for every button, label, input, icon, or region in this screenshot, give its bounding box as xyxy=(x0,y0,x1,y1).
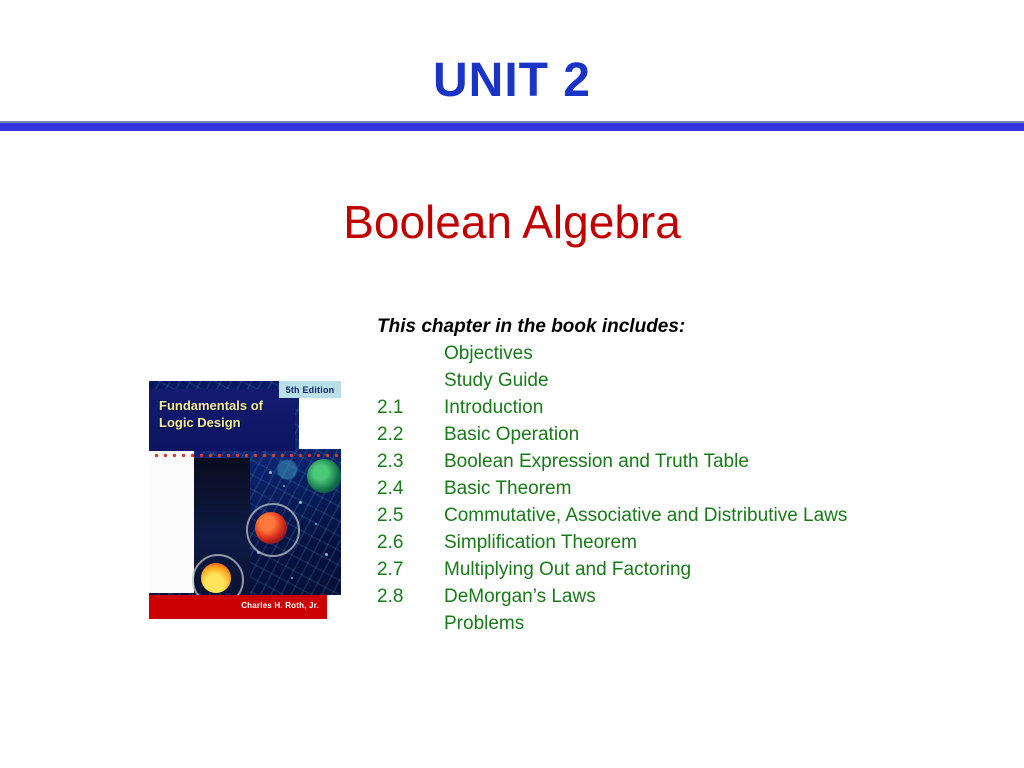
list-item: 2.7 Multiplying Out and Factoring xyxy=(377,556,997,583)
list-item: 2.1 Introduction xyxy=(377,394,997,421)
edition-badge: 5th Edition xyxy=(279,381,341,398)
toc-number: 2.2 xyxy=(377,421,444,448)
list-item: 2.8 DeMorgan’s Laws xyxy=(377,583,997,610)
list-item: 2.6 Simplification Theorem xyxy=(377,529,997,556)
cover-title-line1: Fundamentals of xyxy=(159,397,295,414)
list-item: 2.4 Basic Theorem xyxy=(377,475,997,502)
circuit-speck xyxy=(325,553,328,556)
toc-number xyxy=(377,610,444,637)
list-item: Objectives xyxy=(377,340,997,367)
circuit-speck xyxy=(283,485,285,487)
toc-number: 2.7 xyxy=(377,556,444,583)
cover-title-line2: Logic Design xyxy=(159,414,295,431)
toc-number: 2.6 xyxy=(377,529,444,556)
toc-number: 2.1 xyxy=(377,394,444,421)
slide-subtitle: Boolean Algebra xyxy=(0,196,1024,249)
circuit-speck xyxy=(315,523,317,525)
toc-label: Basic Theorem xyxy=(444,475,997,502)
page-title: UNIT 2 xyxy=(0,55,1024,108)
toc-label: Objectives xyxy=(444,340,997,367)
chapter-contents: This chapter in the book includes: Objec… xyxy=(377,313,997,637)
list-item: Study Guide xyxy=(377,367,997,394)
cover-title: Fundamentals of Logic Design xyxy=(159,397,295,431)
yellow-orb xyxy=(201,563,231,593)
cover-author: Charles H. Roth, Jr. xyxy=(241,601,319,610)
list-item: 2.5 Commutative, Associative and Distrib… xyxy=(377,502,997,529)
toc-number xyxy=(377,340,444,367)
title-divider xyxy=(0,121,1024,131)
toc-label: DeMorgan’s Laws xyxy=(444,583,997,610)
cover-white-panel-right xyxy=(299,398,341,449)
toc-label: Introduction xyxy=(444,394,997,421)
toc-number: 2.8 xyxy=(377,583,444,610)
list-item: 2.3 Boolean Expression and Truth Table xyxy=(377,448,997,475)
circuit-speck xyxy=(299,501,302,504)
toc-label: Multiplying Out and Factoring xyxy=(444,556,997,583)
toc-label: Commutative, Associative and Distributiv… xyxy=(444,502,997,529)
green-orb xyxy=(307,459,341,493)
toc-number xyxy=(377,367,444,394)
cover-dot-row xyxy=(152,453,338,458)
toc-label: Basic Operation xyxy=(444,421,997,448)
list-item: 2.2 Basic Operation xyxy=(377,421,997,448)
book-cover-image: Fundamentals of Logic Design 5th Edition… xyxy=(149,381,341,627)
divider-bar xyxy=(0,123,1024,131)
cover-corner-white xyxy=(327,595,341,619)
toc-label: Problems xyxy=(444,610,997,637)
cover-author-band: Charles H. Roth, Jr. xyxy=(149,595,327,619)
cover-white-panel-left xyxy=(149,451,194,593)
toc-label: Boolean Expression and Truth Table xyxy=(444,448,997,475)
toc-label: Study Guide xyxy=(444,367,997,394)
circuit-speck xyxy=(291,577,293,579)
chapter-intro-text: This chapter in the book includes: xyxy=(377,313,997,340)
red-orb xyxy=(255,512,287,544)
list-item: Problems xyxy=(377,610,997,637)
cover-bottom-white xyxy=(149,619,341,627)
toc-label: Simplification Theorem xyxy=(444,529,997,556)
toc-number: 2.3 xyxy=(377,448,444,475)
toc-number: 2.4 xyxy=(377,475,444,502)
circuit-speck xyxy=(269,471,272,474)
toc-number: 2.5 xyxy=(377,502,444,529)
